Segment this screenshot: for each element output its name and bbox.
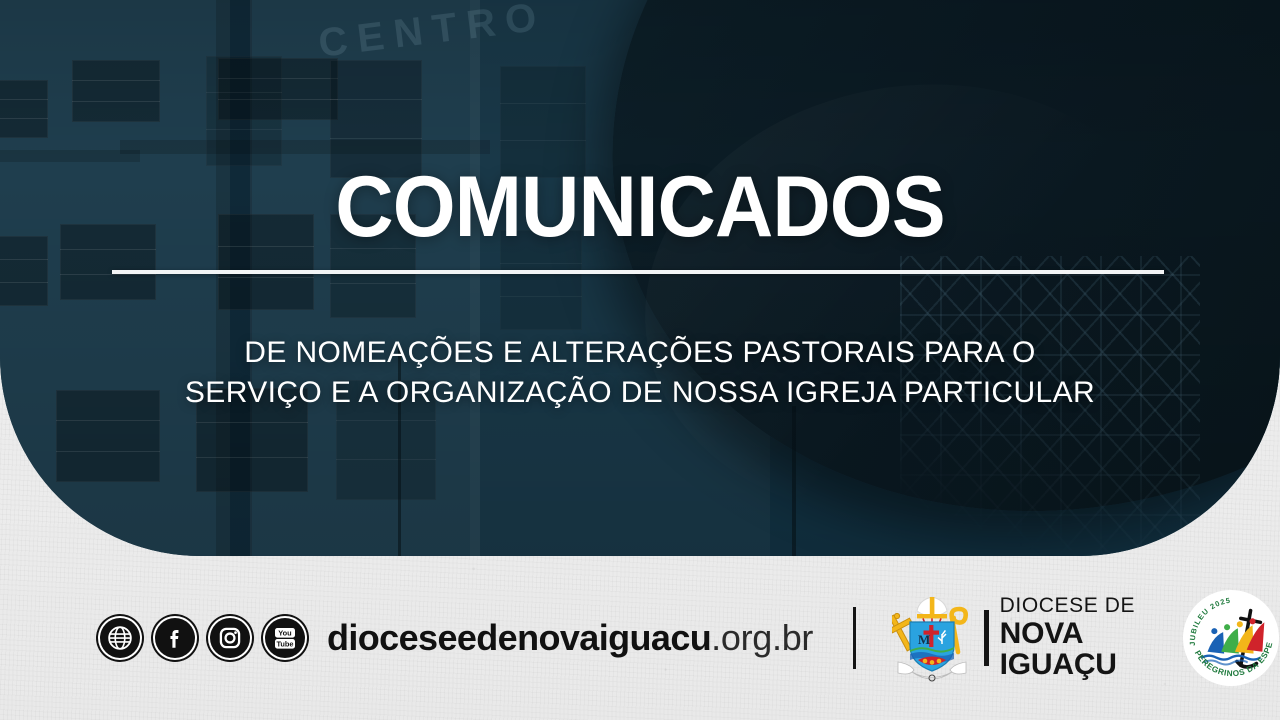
social-icon-group: You Tube [98,616,307,660]
footer-divider [853,607,856,669]
page-subtitle: DE NOMEAÇÕES E ALTERAÇÕES PASTORAIS PARA… [0,333,1280,413]
diocese-crest-icon: M [892,592,972,684]
diocese-logo-lockup: M [892,592,1158,684]
title-divider-rule [112,270,1164,274]
website-url[interactable]: dioceseedenovaiguacu.org.br [327,620,813,656]
jubilee-2025-logo-icon: JUBILEU 2025 PEREGRINOS DA ESPERANÇA [1182,589,1280,687]
banner-canvas: CENTRO COMUNICADOS DE NOMEAÇÕES E ALTERA… [0,0,1280,720]
svg-text:You: You [278,629,292,638]
subtitle-line-2: SERVIÇO E A ORGANIZAÇÃO DE NOSSA IGREJA … [0,373,1280,413]
svg-text:M: M [918,632,930,647]
page-title: COMUNICADOS [38,164,1241,250]
subtitle-line-1: DE NOMEAÇÕES E ALTERAÇÕES PASTORAIS PARA… [0,333,1280,373]
instagram-icon[interactable] [208,616,252,660]
website-url-main: dioceseedenovaiguacu [327,617,711,658]
facebook-icon[interactable] [153,616,197,660]
diocese-line-2: NOVA IGUAÇU [1000,618,1158,682]
youtube-icon[interactable]: You Tube [263,616,307,660]
diocese-wordmark: DIOCESE DE NOVA IGUAÇU [984,610,1158,666]
footer-bar: You Tube dioceseedenovaiguacu.org.br [0,556,1280,720]
diocese-line-1: DIOCESE DE [1000,595,1158,618]
globe-icon[interactable] [98,616,142,660]
website-url-tld: .org.br [711,617,813,658]
svg-text:Tube: Tube [276,640,293,649]
